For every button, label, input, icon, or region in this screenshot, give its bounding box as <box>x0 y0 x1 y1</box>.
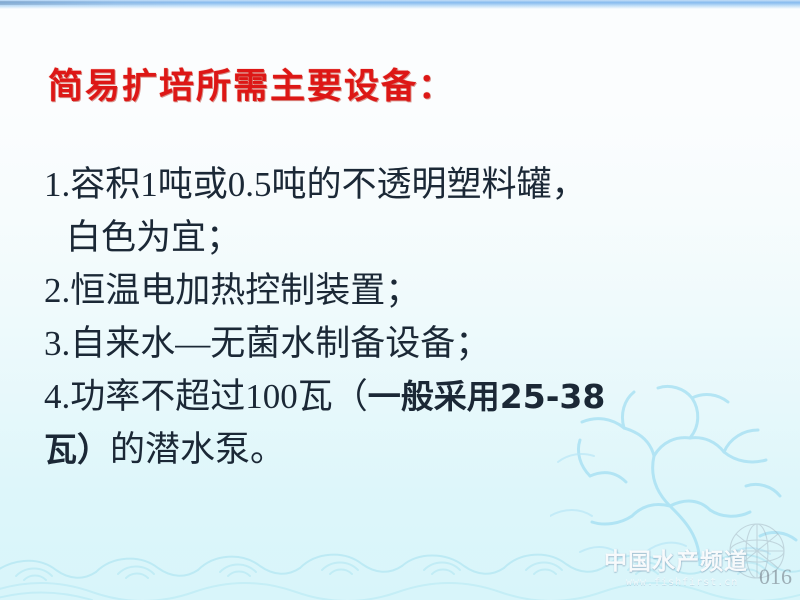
list-item-4-line-1: 4.功率不超过100瓦（一般采用25-38 <box>44 370 760 423</box>
watermark-url: www.fishfirst.cn <box>626 577 738 588</box>
watermark: 中国水产频道 www.fishfirst.cn 016 <box>604 534 794 592</box>
watermark-brand: 中国水产频道 <box>604 542 748 576</box>
top-accent-bar-smudge <box>0 1 210 5</box>
list-item-4-range: 25-38 <box>500 377 606 416</box>
list-item-2: 2.恒温电加热控制装置； <box>44 264 760 317</box>
list-item-3: 3.自来水—无菌水制备设备； <box>44 317 760 370</box>
list-item-4-suffix: 的潜水泵。 <box>110 430 285 469</box>
list-item-1-line-1: 1.容积1吨或0.5吨的不透明塑料罐， <box>44 158 760 211</box>
list-item-4-unit-close: 瓦） <box>44 430 110 469</box>
top-accent-bar <box>0 0 800 9</box>
equipment-list: 1.容积1吨或0.5吨的不透明塑料罐， 白色为宜； 2.恒温电加热控制装置； 3… <box>44 158 760 476</box>
slide-canvas: 简易扩培所需主要设备： 1.容积1吨或0.5吨的不透明塑料罐， 白色为宜； 2.… <box>0 0 800 600</box>
list-item-1-line-2: 白色为宜； <box>44 211 760 264</box>
list-item-4-prefix: 4.功率不超过100瓦（ <box>44 377 368 416</box>
watermark-year: 016 <box>759 564 792 590</box>
list-item-4-emphasis: 一般采用 <box>368 377 500 416</box>
list-item-4-line-2: 瓦）的潜水泵。 <box>44 423 760 476</box>
page-title: 简易扩培所需主要设备： <box>48 58 455 109</box>
